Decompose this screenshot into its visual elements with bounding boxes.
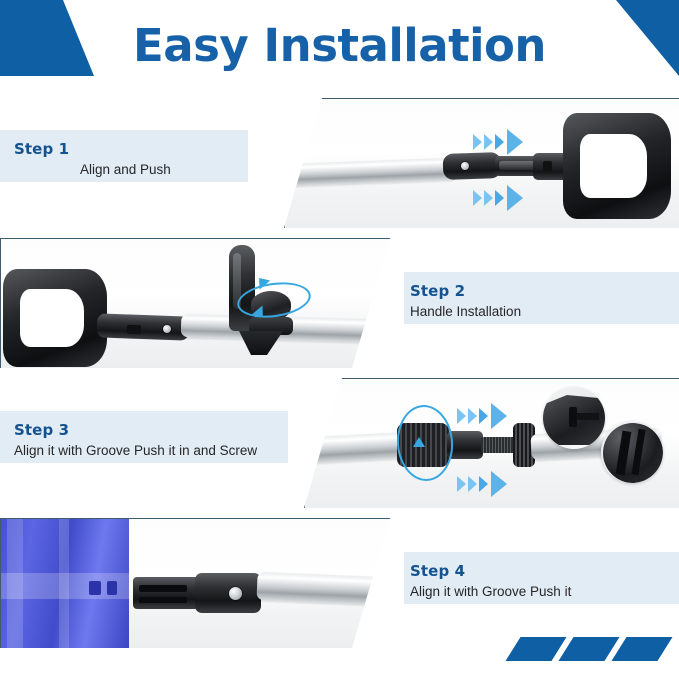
parallelogram-1-icon (506, 637, 567, 661)
step-3-image (304, 378, 679, 510)
rivet-icon (163, 325, 171, 333)
blue-body (1, 519, 129, 649)
step-1-label: Step 1 (14, 140, 69, 158)
step-2-description: Handle Installation (410, 304, 521, 319)
detail-bubble-1 (543, 387, 605, 449)
rotate-arrow-head-icon (413, 437, 425, 447)
push-arrow-bottom-icon (473, 185, 523, 211)
connector-tip (133, 577, 199, 609)
step-4-image (0, 518, 392, 650)
installation-infographic: Easy Installation (0, 0, 679, 679)
parallelogram-3-icon (612, 637, 673, 661)
step-4-label: Step 4 (410, 562, 465, 580)
step-3-label: Step 3 (14, 421, 69, 439)
lock-button-icon (127, 325, 141, 334)
rivet-icon (229, 587, 242, 600)
step-2-image (0, 238, 392, 370)
rivet-icon (461, 162, 469, 170)
step-3-description: Align it with Groove Push it in and Scre… (14, 443, 257, 458)
d-handle (563, 113, 671, 219)
connector-groove-1 (139, 585, 187, 592)
d-handle (3, 269, 107, 367)
push-arrow-top-icon (473, 129, 523, 155)
handle-neck (97, 313, 190, 340)
step-4-description: Align it with Groove Push it (410, 584, 571, 599)
footer-decoration (513, 637, 665, 661)
page-title: Easy Installation (0, 17, 679, 75)
push-arrow-top-icon (457, 403, 507, 429)
push-arrow-bottom-icon (457, 471, 507, 497)
parallelogram-2-icon (559, 637, 620, 661)
pole-coupler (443, 152, 502, 180)
step-2-label: Step 2 (410, 282, 465, 300)
step-1-description: Align and Push (80, 162, 171, 177)
pole-coupler (195, 573, 261, 613)
detail-bubble-2 (601, 421, 663, 483)
step-1-image (284, 98, 679, 230)
header: Easy Installation (0, 0, 679, 92)
lock-button-icon (543, 161, 552, 171)
splined-shaft (481, 437, 517, 453)
connector-groove-2 (139, 597, 187, 603)
